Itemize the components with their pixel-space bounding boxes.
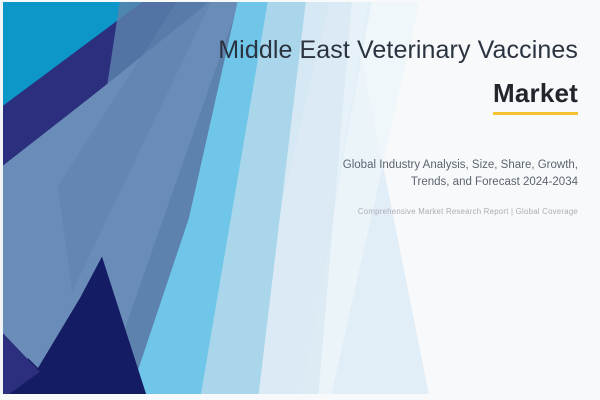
report-title-emphasis: Market (493, 79, 578, 108)
artwork-bottom-border (0, 394, 600, 400)
artwork-left-border (0, 0, 3, 400)
artwork-top-border (0, 0, 600, 2)
report-title: Middle East Veterinary Vaccines (158, 36, 578, 66)
report-title-emphasis-wrap: Market (158, 79, 578, 116)
cover-text-block: Middle East Veterinary Vaccines Market G… (158, 36, 578, 216)
subtitle-line-2: Trends, and Forecast 2024-2034 (158, 174, 578, 191)
report-cover: Middle East Veterinary Vaccines Market G… (0, 0, 600, 400)
report-tagline: Comprehensive Market Research Report | G… (158, 207, 578, 216)
report-subtitle: Global Industry Analysis, Size, Share, G… (158, 157, 578, 190)
title-accent-rule (493, 112, 578, 115)
subtitle-line-1: Global Industry Analysis, Size, Share, G… (158, 157, 578, 174)
